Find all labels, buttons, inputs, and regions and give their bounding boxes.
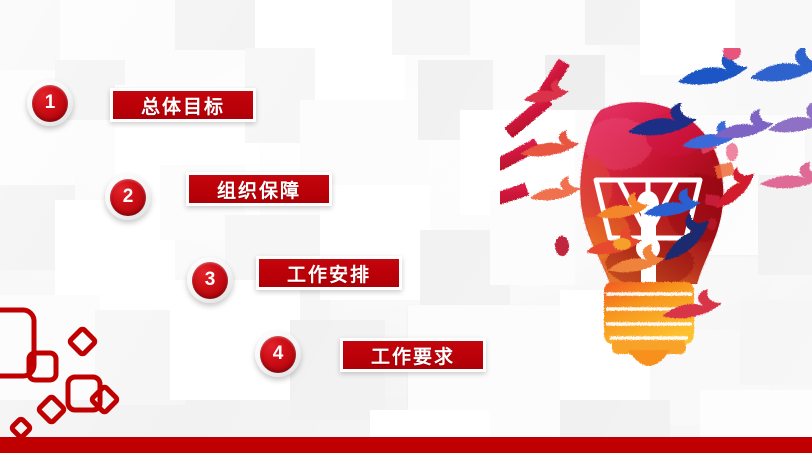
agenda-banner-4[interactable]: 工作要求 <box>340 338 486 372</box>
bottom-accent-bar <box>0 437 812 453</box>
corner-decoration <box>0 277 150 437</box>
agenda-number-2: 2 <box>110 179 146 216</box>
agenda-banner-1[interactable]: 总体目标 <box>110 88 256 122</box>
agenda-label-3: 工作安排 <box>287 260 371 287</box>
agenda-number-3: 3 <box>192 262 228 299</box>
agenda-label-1: 总体目标 <box>141 92 225 119</box>
agenda-banner-2[interactable]: 组织保障 <box>186 172 332 206</box>
agenda-label-4: 工作要求 <box>371 342 455 369</box>
slide-canvas: 1 总体目标 2 组织保障 3 工作安排 4 工作要求 <box>0 0 812 453</box>
agenda-number-1: 1 <box>32 85 68 122</box>
diamond-small <box>69 328 96 355</box>
diamond-mid <box>38 396 65 423</box>
diamond-bottom <box>11 418 31 437</box>
agenda-label-2: 组织保障 <box>217 176 301 203</box>
bulb-screw-base <box>604 282 694 366</box>
agenda-number-4: 4 <box>260 336 296 373</box>
agenda-number-badge-3[interactable]: 3 <box>187 257 233 303</box>
watercolor-lightbulb-illustration <box>500 48 812 378</box>
agenda-number-badge-1[interactable]: 1 <box>27 80 73 126</box>
agenda-number-badge-2[interactable]: 2 <box>105 174 151 220</box>
red-ray-strokes <box>500 58 570 210</box>
agenda-banner-3[interactable]: 工作安排 <box>256 256 402 290</box>
agenda-number-badge-4[interactable]: 4 <box>255 331 301 377</box>
